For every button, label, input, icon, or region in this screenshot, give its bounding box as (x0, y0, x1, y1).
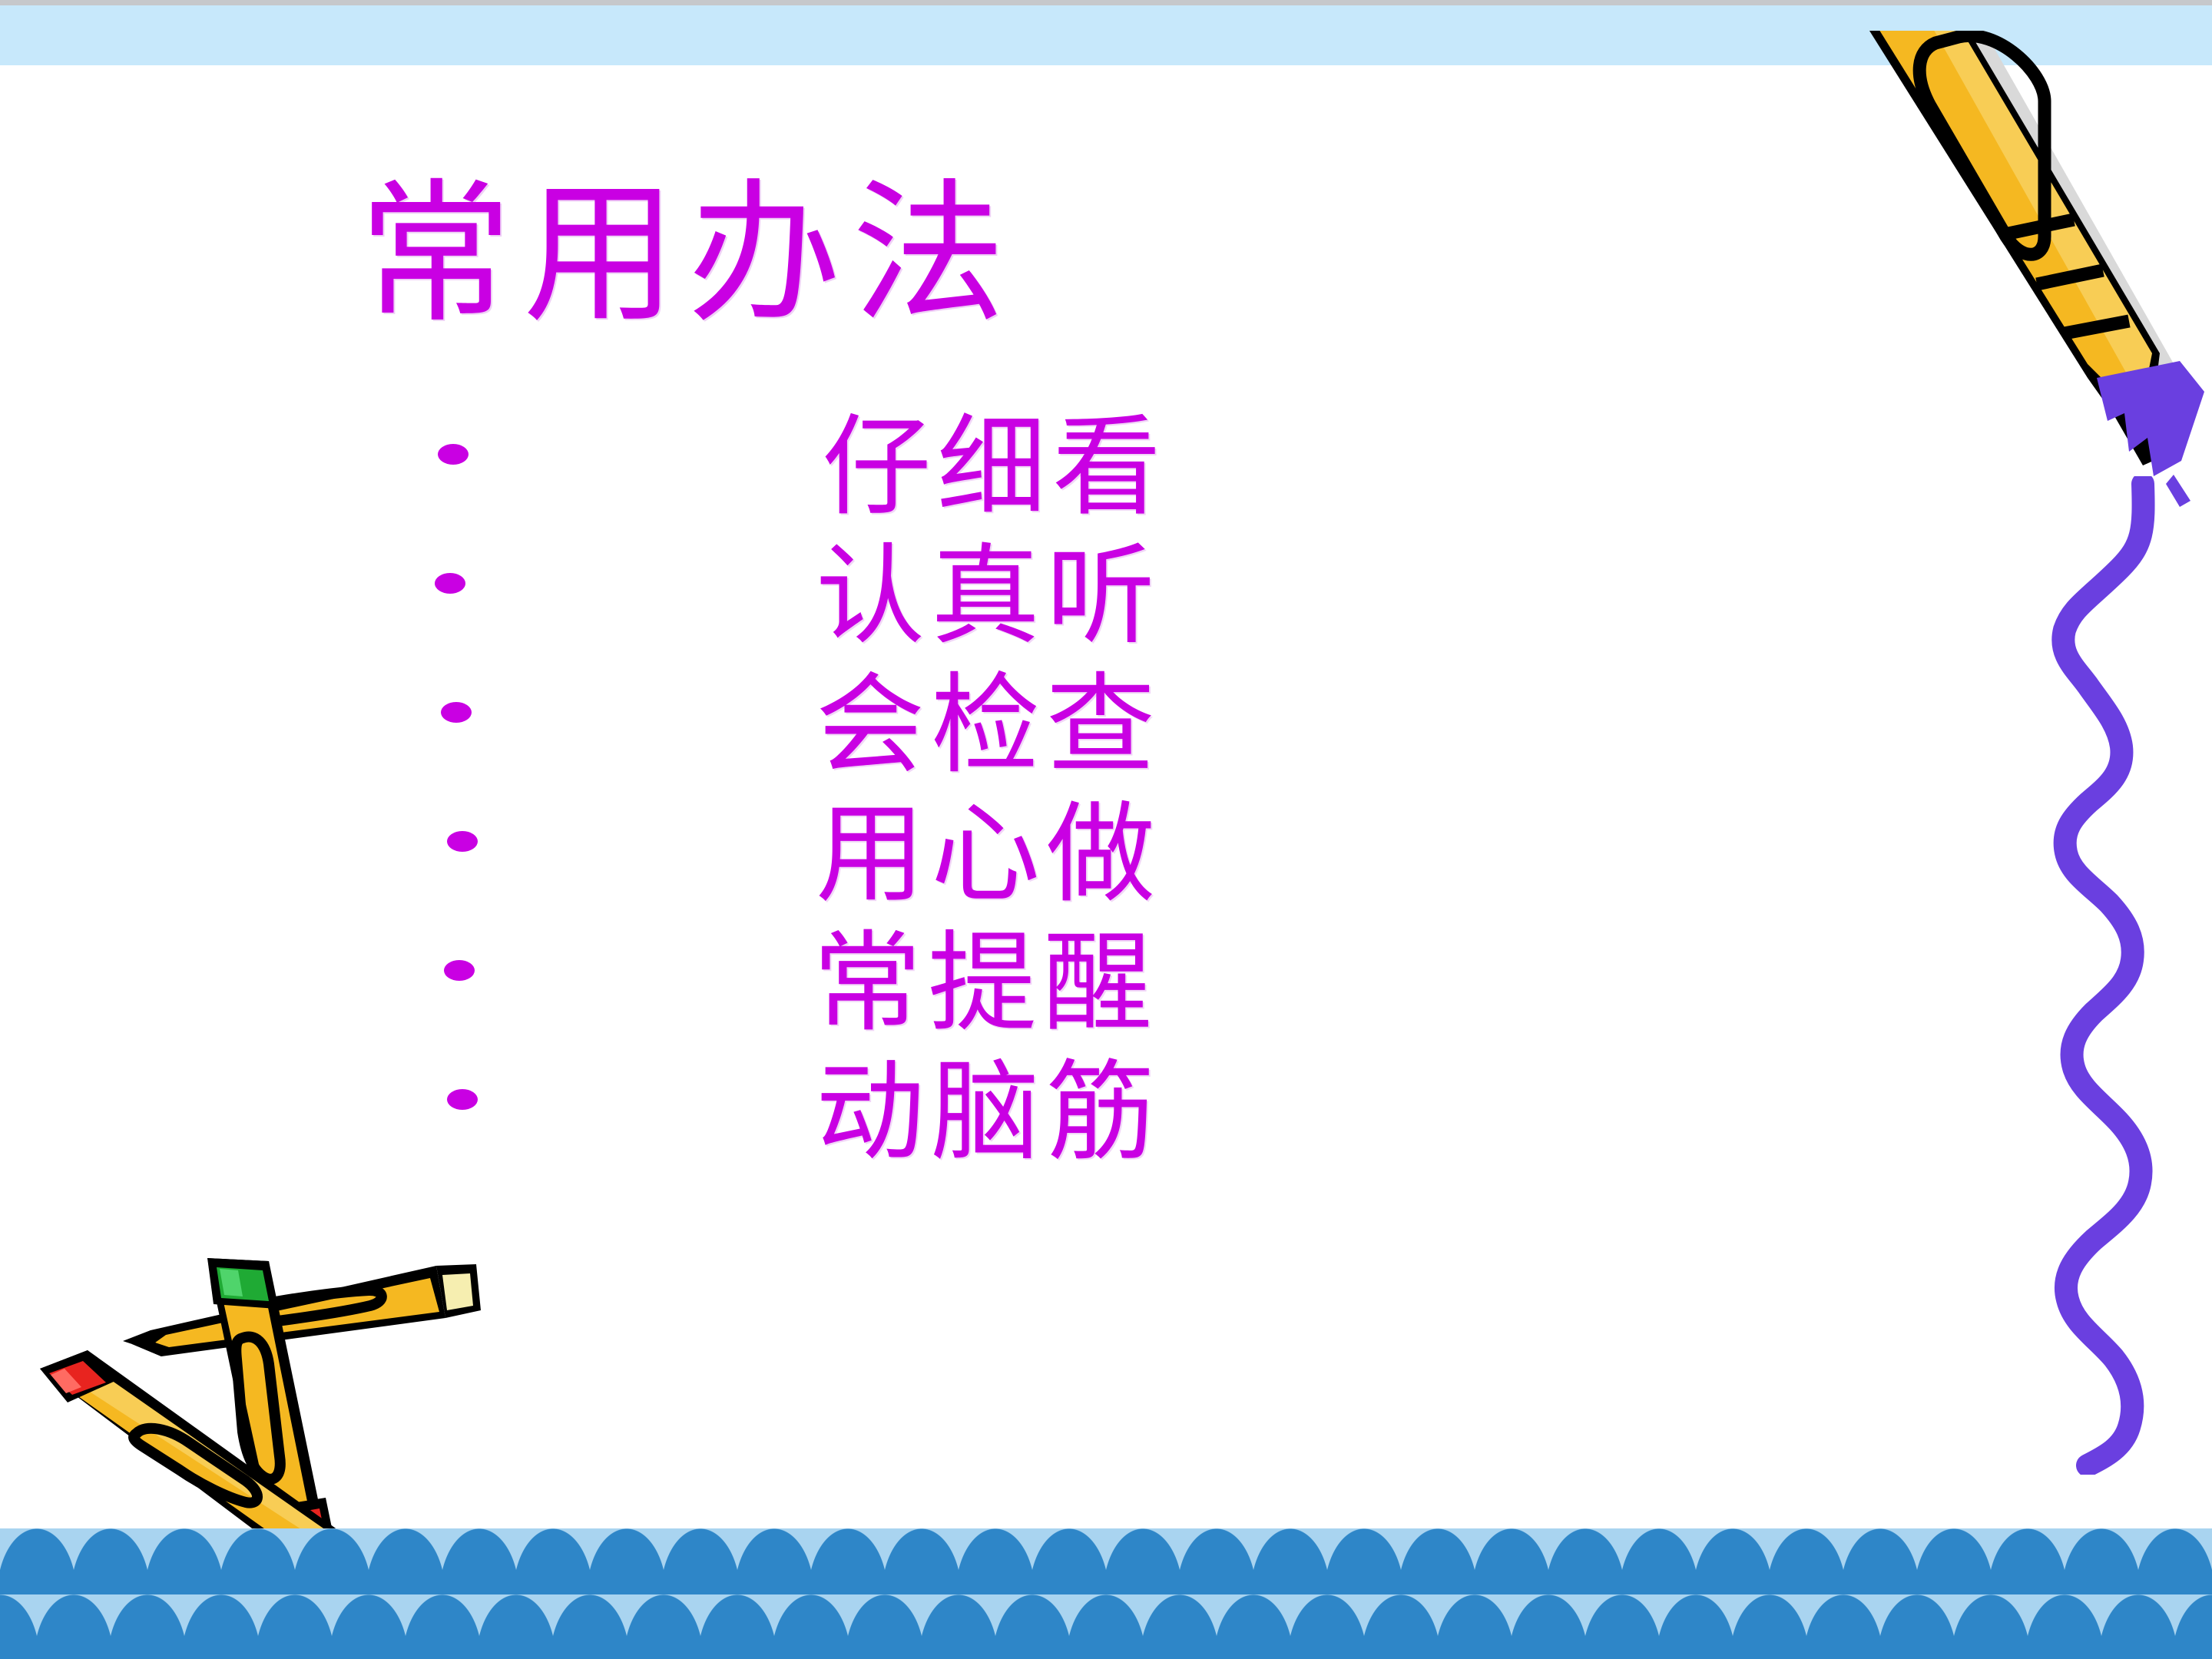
list-item-label: 常提醒 (813, 929, 1158, 1038)
list-item: 动脑筋 (0, 1072, 2212, 1201)
scallop-row-lower (0, 1594, 2212, 1659)
bullet-dot-icon (438, 444, 469, 465)
top-gray-strip (0, 0, 2212, 5)
bullet-dot-icon (444, 960, 475, 981)
list-item-label: 用心做 (816, 800, 1161, 909)
bullet-dot-icon (447, 831, 478, 852)
bullet-list: 仔细看 认真听 会检查 用心做 常提醒 动脑筋 (0, 427, 2212, 1201)
bullet-dot-icon (435, 573, 465, 594)
list-item-label: 动脑筋 (816, 1058, 1161, 1167)
list-item-label: 仔细看 (822, 413, 1167, 522)
bottom-scallop-band (0, 1528, 2212, 1659)
bullet-dot-icon (441, 702, 472, 723)
bullet-dot-icon (447, 1089, 478, 1110)
list-item-label: 会检查 (816, 671, 1161, 780)
scallop-row-upper (0, 1528, 2212, 1594)
crayons-bottom-left-icon (15, 1244, 522, 1567)
list-item-label: 认真听 (816, 542, 1161, 651)
slide-canvas: 常用办法 仔细看 认真听 会检查 用心做 常提醒 动脑筋 (0, 0, 2212, 1659)
page-title: 常用办法 (0, 178, 2212, 332)
